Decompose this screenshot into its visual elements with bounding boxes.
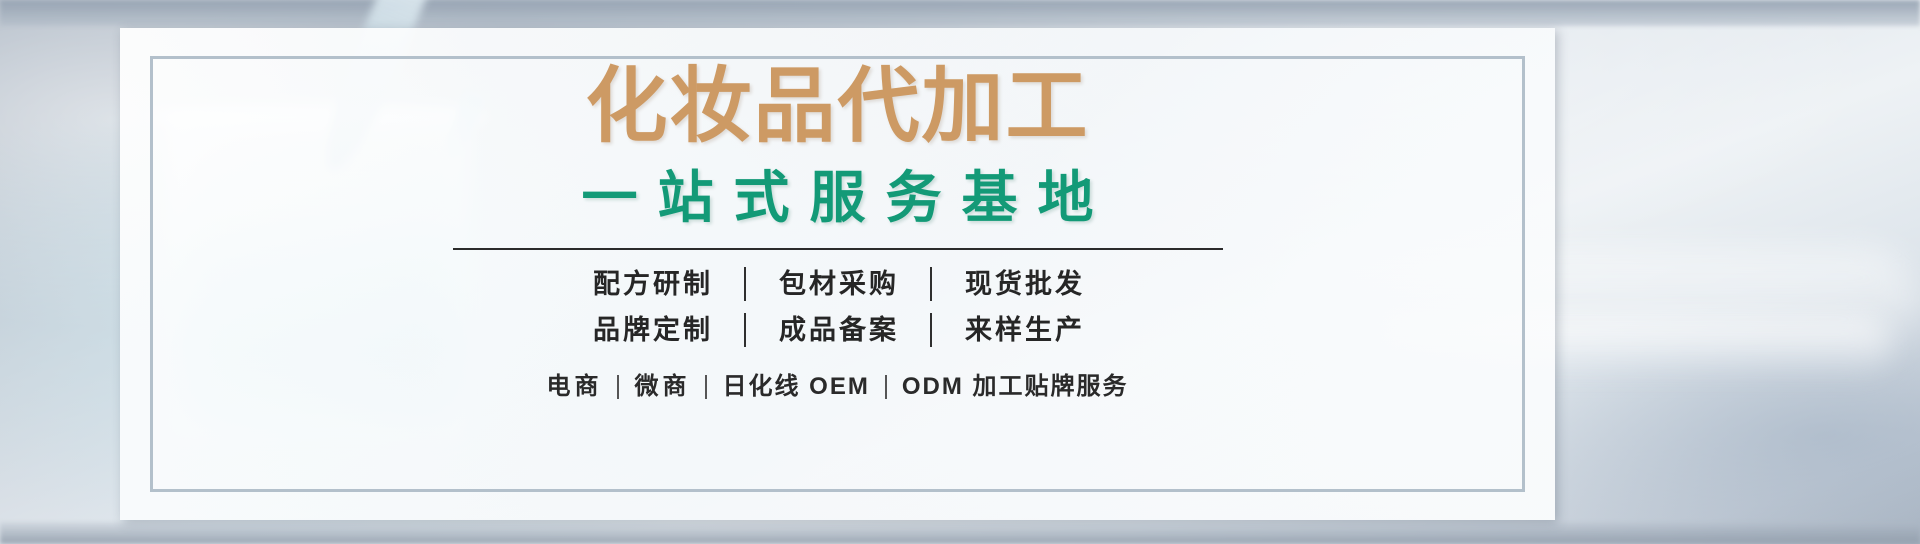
banner-content: 化妆品代加工 一站式服务基地 配方研制 包材采购 现货批发 品牌定制 成品备案 …	[120, 28, 1555, 520]
feature-item-filing: 成品备案	[762, 310, 914, 350]
title-divider-line	[453, 248, 1223, 250]
background-top-band	[0, 0, 1920, 26]
feature-grid: 配方研制 包材采购 现货批发 品牌定制 成品备案 来样生产	[576, 264, 1100, 350]
tagline-item-odm: ODM 加工贴牌服务	[900, 366, 1131, 401]
tagline-separator-icon	[617, 375, 619, 399]
feature-separator-icon	[930, 313, 932, 347]
tagline-item-wechat-business: 微商	[632, 366, 692, 401]
feature-separator-icon	[744, 267, 746, 301]
banner-tagline: 电商 微商 日化线 OEM ODM 加工贴牌服务	[544, 366, 1130, 401]
banner-title-main: 化妆品代加工	[585, 66, 1089, 148]
tagline-item-oem: 日化线 OEM	[720, 366, 871, 401]
feature-item-wholesale: 现货批发	[948, 264, 1100, 304]
feature-item-formulation: 配方研制	[576, 264, 728, 304]
feature-row: 配方研制 包材采购 现货批发	[576, 264, 1100, 304]
feature-separator-icon	[744, 313, 746, 347]
tagline-separator-icon	[885, 375, 887, 399]
feature-item-sample-production: 来样生产	[948, 310, 1100, 350]
feature-separator-icon	[930, 267, 932, 301]
tagline-item-ecommerce: 电商	[544, 366, 604, 401]
feature-item-packaging: 包材采购	[762, 264, 914, 304]
tagline-separator-icon	[705, 375, 707, 399]
banner-title-sub: 一站式服务基地	[562, 170, 1114, 226]
promotional-banner: 化妆品代加工 一站式服务基地 配方研制 包材采购 现货批发 品牌定制 成品备案 …	[0, 0, 1920, 544]
feature-item-branding: 品牌定制	[576, 310, 728, 350]
background-bottom-band	[0, 522, 1920, 544]
feature-row: 品牌定制 成品备案 来样生产	[576, 310, 1100, 350]
